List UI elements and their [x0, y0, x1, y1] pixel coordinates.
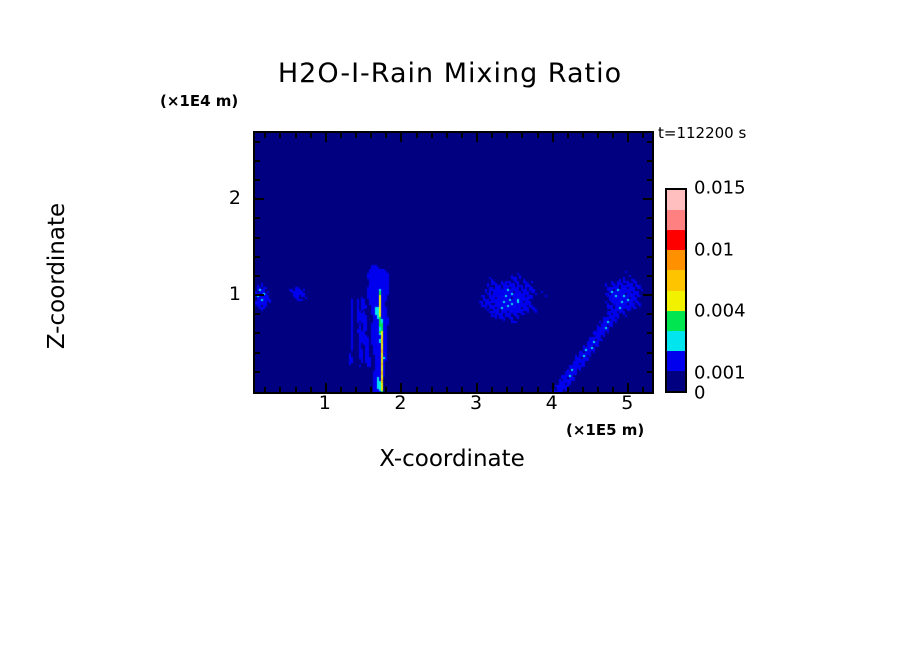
y-tick-label: 2 [229, 187, 241, 209]
tick-mark [431, 387, 433, 392]
tick-mark [647, 275, 652, 277]
tick-mark [647, 141, 652, 143]
tick-mark [255, 256, 260, 258]
tick-mark [461, 387, 463, 392]
tick-mark [385, 133, 387, 138]
tick-mark [310, 387, 312, 392]
colorbar-band [667, 270, 685, 290]
tick-mark [264, 133, 266, 138]
heatmap-canvas [255, 133, 652, 392]
tick-mark [567, 133, 569, 138]
tick-mark [416, 387, 418, 392]
tick-mark [255, 313, 260, 315]
tick-mark [647, 332, 652, 334]
figure-canvas: H2O-I-Rain Mixing Ratio (×1E4 m) t=11220… [0, 0, 904, 654]
tick-mark [643, 198, 652, 200]
x-tick-label: 2 [394, 392, 406, 414]
colorbar [665, 188, 687, 393]
tick-mark [355, 133, 357, 138]
tick-mark [582, 387, 584, 392]
x-tick-label: 5 [621, 392, 633, 414]
tick-mark [400, 383, 402, 392]
tick-mark [647, 217, 652, 219]
tick-mark [370, 387, 372, 392]
tick-mark [521, 387, 523, 392]
tick-mark [537, 387, 539, 392]
tick-mark [255, 179, 260, 181]
plot-area [253, 131, 654, 394]
colorbar-band [667, 190, 685, 210]
tick-mark [416, 133, 418, 138]
tick-mark [506, 387, 508, 392]
y-tick-label: 1 [229, 283, 241, 305]
x-axis-label-text: X-coordinate [379, 446, 525, 472]
tick-mark [597, 133, 599, 138]
tick-mark [400, 133, 402, 142]
tick-mark [295, 133, 297, 138]
tick-mark [597, 387, 599, 392]
tick-mark [446, 133, 448, 138]
tick-mark [255, 332, 260, 334]
tick-mark [627, 133, 629, 142]
colorbar-band [667, 250, 685, 270]
tick-mark [340, 387, 342, 392]
colorbar-band [667, 210, 685, 230]
y-axis-label: Z-coordinate [44, 126, 70, 426]
x-axis-units: (×1E5 m) [566, 421, 644, 439]
tick-mark [642, 387, 644, 392]
tick-mark [255, 371, 260, 373]
colorbar-band [667, 351, 685, 371]
tick-mark [325, 383, 327, 392]
colorbar-band [667, 291, 685, 311]
tick-mark [255, 294, 264, 296]
x-tick-label: 3 [470, 392, 482, 414]
tick-mark [647, 160, 652, 162]
tick-mark [647, 256, 652, 258]
tick-mark [647, 371, 652, 373]
tick-mark [647, 179, 652, 181]
colorbar-band [667, 331, 685, 351]
tick-mark [310, 133, 312, 138]
tick-mark [446, 387, 448, 392]
colorbar-band [667, 311, 685, 331]
tick-mark [295, 387, 297, 392]
tick-mark [552, 133, 554, 142]
tick-mark [255, 160, 260, 162]
tick-mark [255, 198, 264, 200]
tick-mark [643, 294, 652, 296]
tick-mark [340, 133, 342, 138]
tick-mark [642, 133, 644, 138]
tick-mark [612, 133, 614, 138]
tick-mark [476, 383, 478, 392]
time-annotation: t=112200 s [658, 124, 746, 142]
colorbar-tick-label: 0.001 [694, 362, 746, 383]
tick-mark [255, 275, 260, 277]
colorbar-tick-label: 0.015 [694, 178, 746, 199]
tick-mark [385, 387, 387, 392]
tick-mark [627, 383, 629, 392]
colorbar-tick-label: 0.01 [694, 239, 734, 260]
tick-mark [537, 133, 539, 138]
chart-title: H2O-I-Rain Mixing Ratio [0, 58, 904, 89]
tick-mark [431, 133, 433, 138]
tick-mark [521, 133, 523, 138]
tick-mark [461, 133, 463, 138]
colorbar-tick-label: 0 [694, 383, 705, 404]
tick-mark [552, 383, 554, 392]
tick-mark [612, 387, 614, 392]
tick-mark [255, 237, 260, 239]
tick-mark [255, 217, 260, 219]
x-axis-label: X-coordinate [0, 446, 904, 472]
tick-mark [582, 133, 584, 138]
tick-mark [567, 387, 569, 392]
colorbar-band [667, 230, 685, 250]
x-tick-label: 1 [319, 392, 331, 414]
tick-mark [647, 352, 652, 354]
tick-mark [370, 133, 372, 138]
tick-mark [647, 237, 652, 239]
chart-title-text: H2O-I-Rain Mixing Ratio [278, 58, 622, 89]
colorbar-band [667, 371, 685, 391]
x-tick-label: 4 [546, 392, 558, 414]
tick-mark [476, 133, 478, 142]
tick-mark [325, 133, 327, 142]
tick-mark [491, 133, 493, 138]
y-axis-units: (×1E4 m) [160, 92, 238, 110]
tick-mark [279, 133, 281, 138]
tick-mark [647, 313, 652, 315]
tick-mark [279, 387, 281, 392]
tick-mark [264, 387, 266, 392]
tick-mark [491, 387, 493, 392]
tick-mark [255, 352, 260, 354]
tick-mark [355, 387, 357, 392]
colorbar-tick-label: 0.004 [694, 301, 746, 322]
tick-mark [255, 141, 260, 143]
tick-mark [506, 133, 508, 138]
